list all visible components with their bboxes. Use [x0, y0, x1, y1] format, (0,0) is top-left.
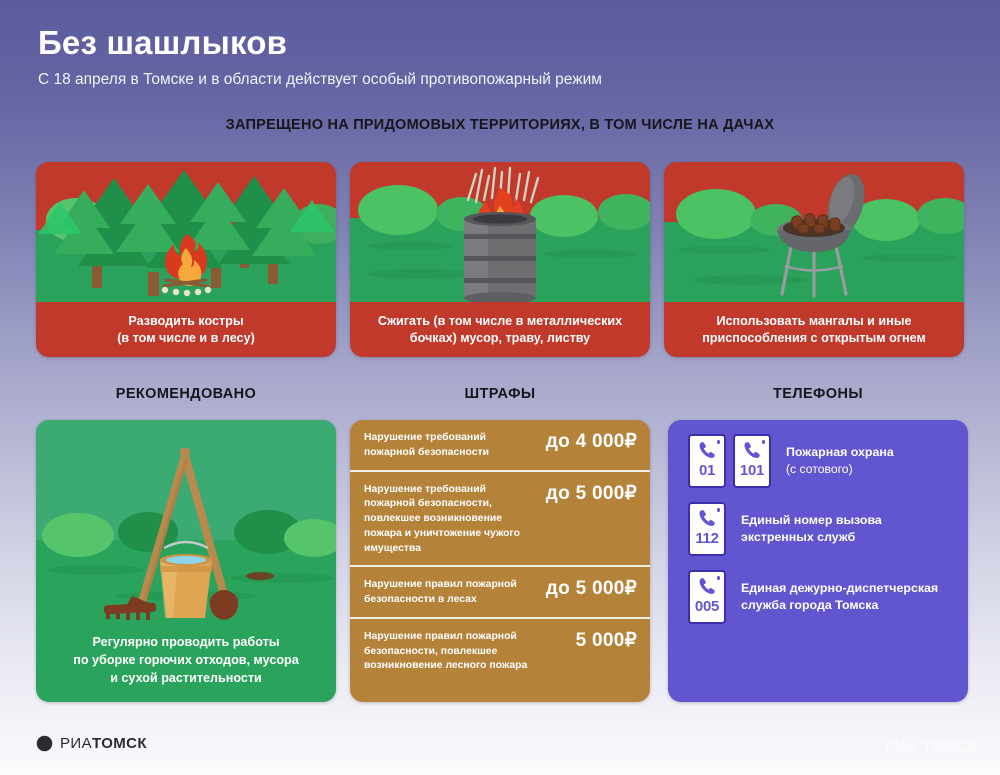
page-title: Без шашлыков: [38, 26, 1000, 61]
phone-entry-text: Единая дежурно-диспетчерская служба горо…: [741, 580, 954, 613]
caption-line-3: и сухой растительности: [110, 669, 262, 687]
fine-row: Нарушение требований пожарной безопаснос…: [350, 472, 650, 568]
phone-entry-emergency: 112 Единый номер вызова экстренных служб: [668, 488, 968, 556]
caption-line-1: Разводить костры: [128, 313, 243, 330]
phone-number: 112: [695, 531, 718, 546]
fine-row: Нарушение правил пожарной безопасности в…: [350, 567, 650, 619]
prohibited-card-barrel: Сжигать (в том числе в металлических боч…: [350, 162, 650, 357]
phone-badge-101[interactable]: 101: [733, 434, 771, 488]
caption-line-2: бочках) мусор, траву, листву: [410, 330, 590, 347]
logo-text-tomsk: ТОМСК: [92, 735, 147, 752]
phone-entry-fire-service: 01 101 Пожарная охрана (с сотового): [668, 420, 968, 488]
fine-label: Нарушение требований пожарной безопаснос…: [364, 481, 546, 557]
phone-number: 01: [699, 463, 715, 478]
caption-line-2: (в том числе и в лесу): [117, 330, 255, 347]
fine-row: Нарушение требований пожарной безопаснос…: [350, 420, 650, 472]
prohibited-card-barrel-caption: Сжигать (в том числе в металлических боч…: [350, 302, 650, 357]
page-header: Без шашлыков С 18 апреля в Томске и в об…: [0, 0, 1000, 89]
fine-amount: 5 000₽: [576, 628, 637, 652]
fines-heading: ШТРАФЫ: [350, 386, 650, 402]
phone-service-name: Пожарная охрана: [786, 444, 894, 461]
fine-row: Нарушение правил пожарной безопасности, …: [350, 619, 650, 683]
prohibited-card-grill: Использовать мангалы и иные приспособлен…: [664, 162, 964, 357]
watermark: РИА ТОМСК: [885, 738, 978, 755]
campfire-in-forest-icon: [36, 162, 336, 302]
recommended-heading: РЕКОМЕНДОВАНО: [36, 386, 336, 402]
page-subtitle: С 18 апреля в Томске и в области действу…: [38, 71, 1000, 89]
phone-handset-icon: [741, 440, 763, 462]
phone-badge-01[interactable]: 01: [688, 434, 726, 488]
caption-line-1: Использовать мангалы и иные: [716, 313, 911, 330]
badge-dot-icon: [717, 440, 721, 444]
caption-line-2: приспособления с открытым огнем: [702, 330, 926, 347]
recommended-caption: Регулярно проводить работы по уборке гор…: [36, 618, 336, 702]
prohibited-card-grill-caption: Использовать мангалы и иные приспособлен…: [664, 302, 964, 357]
phone-badge-group: 112: [688, 502, 726, 556]
phone-number: 101: [740, 463, 764, 478]
bottom-section-headings: РЕКОМЕНДОВАНО ШТРАФЫ ТЕЛЕФОНЫ: [0, 386, 1000, 402]
phones-panel: 01 101 Пожарная охрана (с сотового) 112: [668, 420, 968, 702]
phones-heading: ТЕЛЕФОНЫ: [668, 386, 968, 402]
caption-line-1: Сжигать (в том числе в металлических: [378, 313, 622, 330]
phone-badge-group: 01 101: [688, 434, 771, 488]
fine-label: Нарушение требований пожарной безопаснос…: [364, 429, 546, 461]
phone-number: 005: [695, 599, 719, 614]
badge-dot-icon: [717, 508, 721, 512]
caption-line-2: по уборке горючих отходов, мусора: [73, 651, 299, 669]
caption-line-1: Регулярно проводить работы: [92, 633, 279, 651]
burning-barrel-icon: [350, 162, 650, 302]
fine-label: Нарушение правил пожарной безопасности, …: [364, 628, 576, 674]
fine-amount: до 5 000₽: [546, 576, 637, 600]
phone-badge-112[interactable]: 112: [688, 502, 726, 556]
prohibited-section-heading: ЗАПРЕЩЕНО НА ПРИДОМОВЫХ ТЕРРИТОРИЯХ, В Т…: [0, 117, 1000, 133]
phone-entry-text: Пожарная охрана (с сотового): [786, 444, 894, 477]
rake-shovel-bucket-icon: [36, 420, 336, 620]
phone-handset-icon: [696, 508, 718, 530]
phone-entry-dispatch: 005 Единая дежурно-диспетчерская служба …: [668, 556, 968, 624]
phone-entry-text: Единый номер вызова экстренных служб: [741, 512, 954, 545]
fine-label: Нарушение правил пожарной безопасности в…: [364, 576, 546, 608]
recommended-card: Регулярно проводить работы по уборке гор…: [36, 420, 336, 702]
phone-handset-icon: [696, 576, 718, 598]
ria-logo-mark-icon: [36, 735, 53, 752]
phone-service-name: Единая дежурно-диспетчерская служба горо…: [741, 580, 954, 613]
barbecue-grill-icon: [664, 162, 964, 302]
phone-handset-icon: [696, 440, 718, 462]
prohibited-card-campfire-caption: Разводить костры (в том числе и в лесу): [36, 302, 336, 357]
phone-badge-005[interactable]: 005: [688, 570, 726, 624]
fine-amount: до 5 000₽: [546, 481, 637, 505]
badge-dot-icon: [762, 440, 766, 444]
phone-service-name: Единый номер вызова экстренных служб: [741, 512, 954, 545]
logo-text-ria: РИА: [60, 735, 92, 752]
ria-tomsk-logo-text: РИАТОМСК: [60, 735, 147, 752]
phone-badge-group: 005: [688, 570, 726, 624]
ria-tomsk-logo[interactable]: РИАТОМСК: [36, 735, 147, 752]
badge-dot-icon: [717, 576, 721, 580]
fine-amount: до 4 000₽: [546, 429, 637, 453]
prohibited-cards-row: Разводить костры (в том числе и в лесу): [36, 162, 964, 357]
prohibited-card-campfire: Разводить костры (в том числе и в лесу): [36, 162, 336, 357]
fines-panel: Нарушение требований пожарной безопаснос…: [350, 420, 650, 702]
phone-service-note: (с сотового): [786, 461, 894, 477]
